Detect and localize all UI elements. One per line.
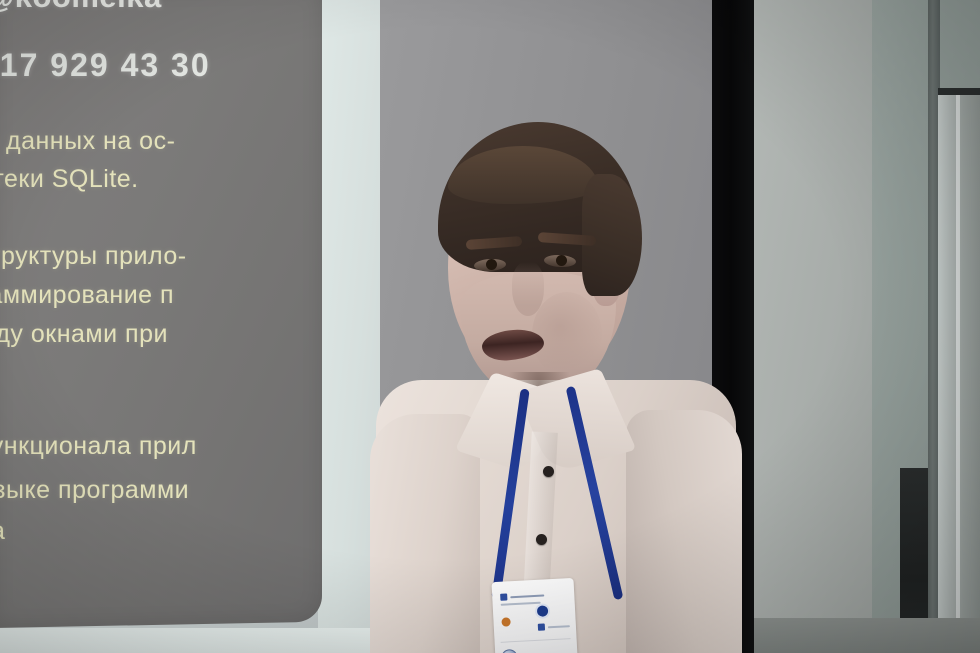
badge-divider — [501, 638, 571, 643]
pupil-left — [486, 259, 497, 270]
projected-slide: @koomelka 917 929 43 30 азы данных на ос… — [0, 0, 322, 628]
slide-body-line-5: ежду окнами при — [0, 320, 322, 349]
slide-body-line-3: структуры прило- — [0, 242, 322, 271]
badge-emblem-icon — [501, 617, 510, 626]
slide-body-line-1: азы данных на ос- — [0, 127, 322, 156]
badge-text-line — [510, 594, 544, 598]
badge-text-line — [548, 625, 570, 628]
slide-body-line-7: языке программи — [0, 476, 322, 505]
slide-handle-text: @koomelka — [0, 0, 322, 15]
nose — [512, 262, 544, 316]
shirt-button — [543, 466, 554, 477]
slide-body-line-6: функционала прил — [0, 432, 322, 461]
floor — [752, 618, 980, 653]
pupil-right — [556, 255, 567, 266]
slide-body-line-4: ограммирование п — [0, 281, 322, 310]
slide-body-line-8: va — [0, 517, 322, 546]
badge-text-line — [501, 602, 541, 606]
cheek-shadow — [532, 292, 602, 378]
badge-logo-icon — [538, 623, 545, 630]
conference-badge — [491, 578, 578, 653]
badge-globe-icon — [501, 649, 518, 653]
presenter — [386, 122, 746, 653]
badge-logo-icon — [500, 593, 507, 600]
slide-body-line-2: иотеки SQLite. — [0, 165, 322, 194]
slide-phone-text: 917 929 43 30 — [0, 47, 322, 84]
badge-seal-icon — [537, 605, 549, 617]
shirt-button — [536, 534, 547, 545]
glass-highlight — [956, 95, 960, 653]
wall-pillar — [754, 0, 872, 653]
photo-scene: @koomelka 917 929 43 30 азы данных на ос… — [0, 0, 980, 653]
shirt-sleeve-right — [626, 410, 742, 653]
screen-bottom-border — [0, 628, 400, 653]
